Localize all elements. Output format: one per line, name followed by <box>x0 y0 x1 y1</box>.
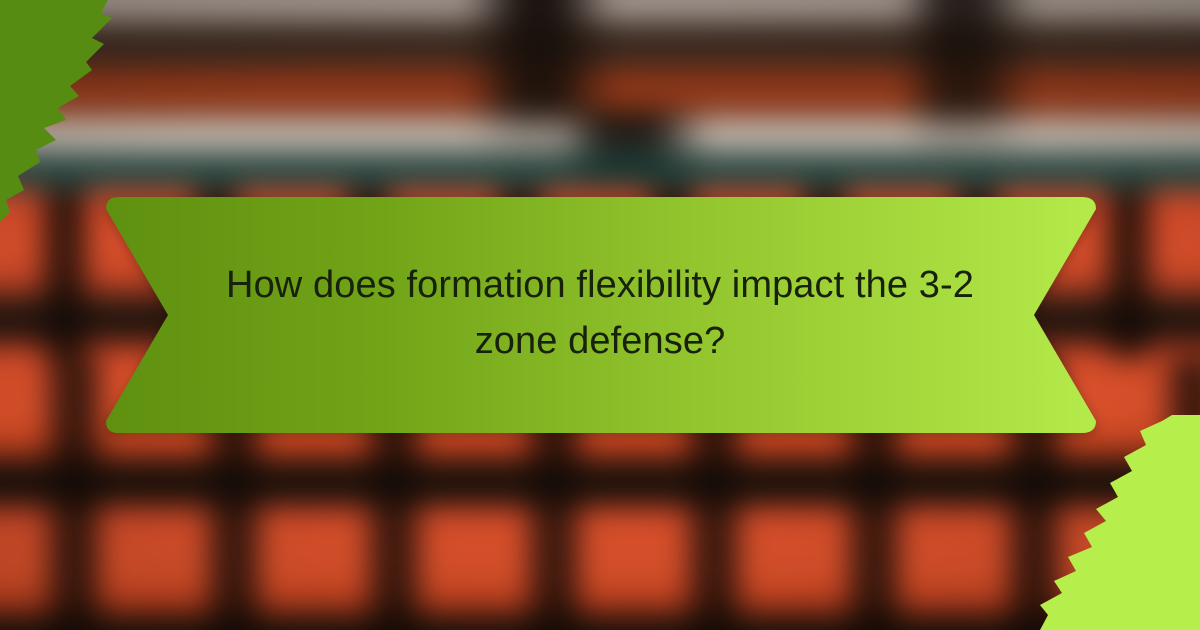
headline-banner: How does formation flexibility impact th… <box>104 195 1096 435</box>
social-card: How does formation flexibility impact th… <box>0 0 1200 630</box>
headline-text: How does formation flexibility impact th… <box>224 195 976 435</box>
